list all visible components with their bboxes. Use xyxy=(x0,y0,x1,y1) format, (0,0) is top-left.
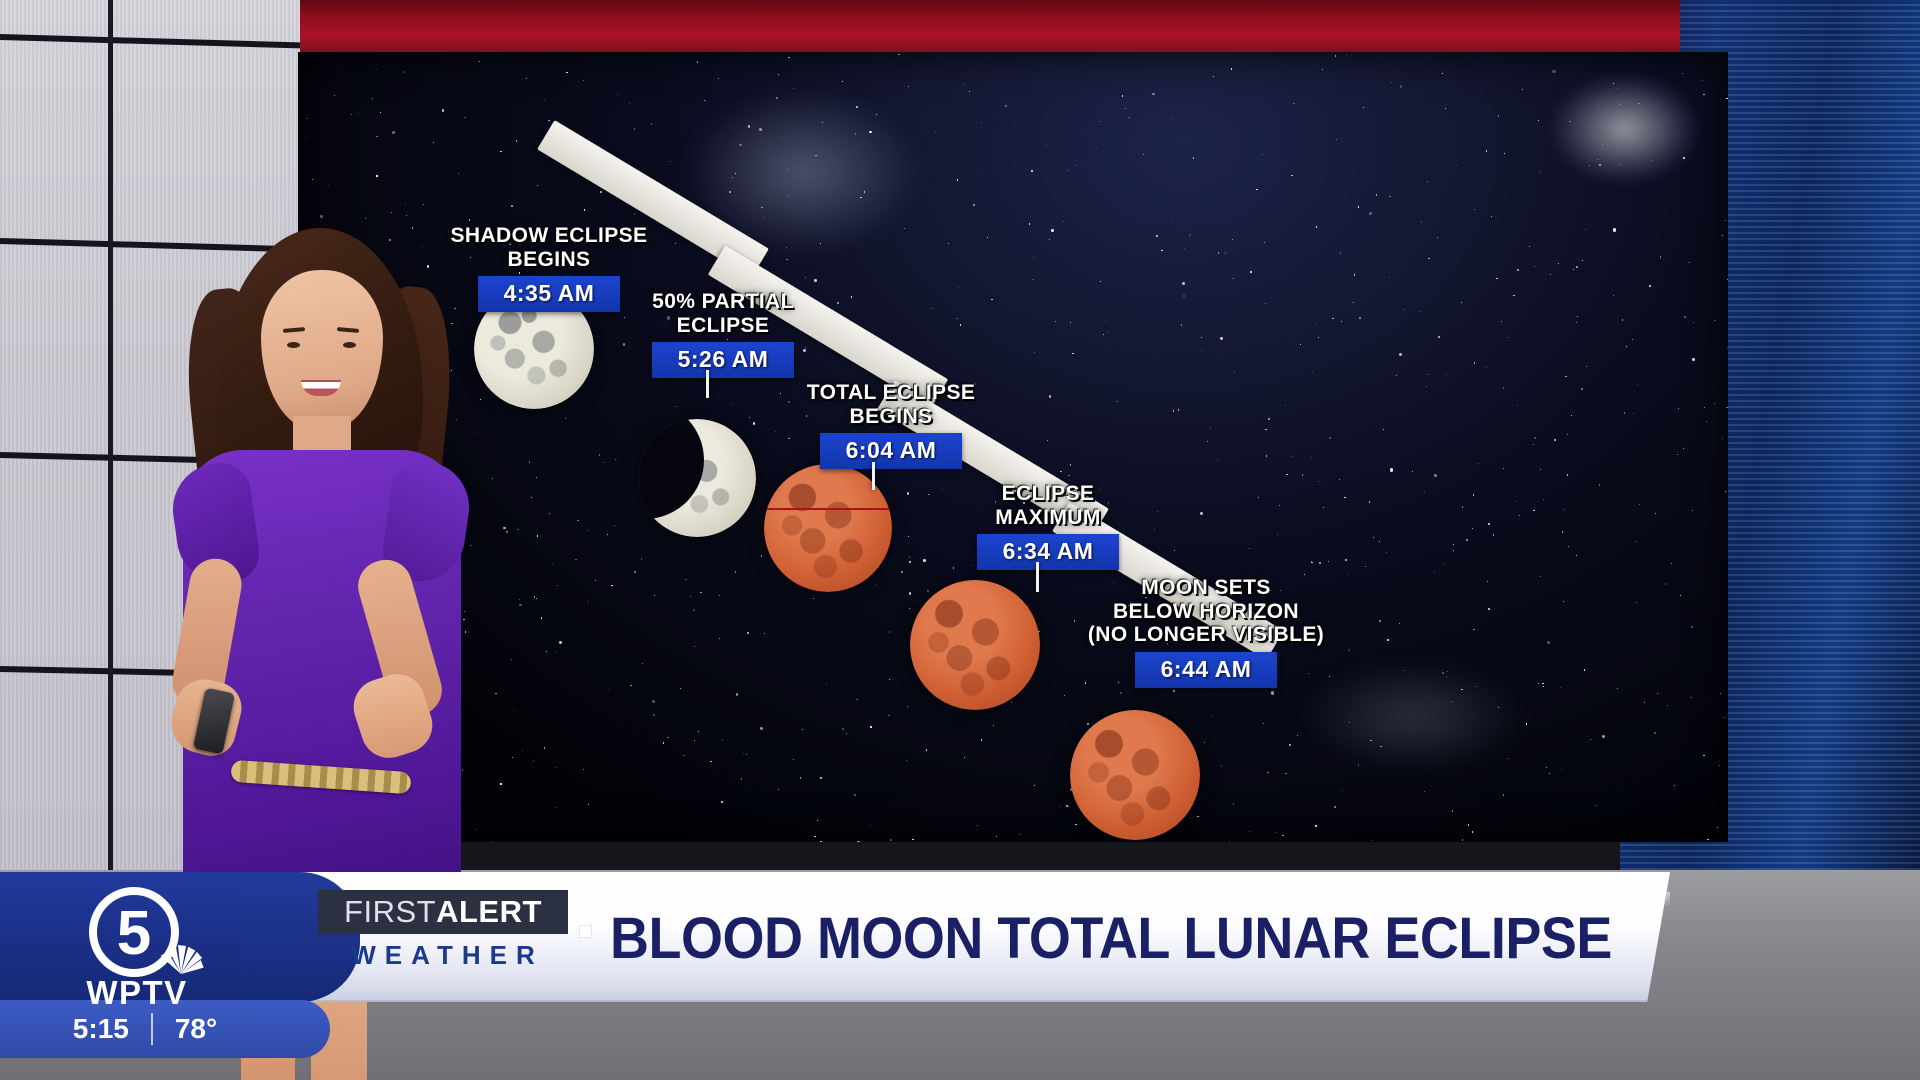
presenter-eyebrow xyxy=(337,327,359,333)
stage-time-chip: 6:34 AM xyxy=(977,534,1120,570)
stage-label-line: TOTAL ECLIPSE xyxy=(726,381,1056,405)
brand-alert: ALERT xyxy=(436,894,542,929)
moon-disc xyxy=(1070,710,1200,840)
presenter-eye xyxy=(287,342,300,348)
brand-weather: WEATHER xyxy=(318,934,568,971)
stage-label-line: ECLIPSE xyxy=(888,482,1208,506)
moon-disc xyxy=(910,580,1040,710)
stage-label-eclipse-maximum: ECLIPSE MAXIMUM 6:34 AM xyxy=(888,482,1208,570)
brand-first: FIRST xyxy=(344,894,436,929)
stage-label-total-eclipse-begins: TOTAL ECLIPSE BEGINS 6:04 AM xyxy=(726,381,1056,469)
headline-text: BLOOD MOON TOTAL LUNAR ECLIPSE xyxy=(610,892,1549,984)
svg-text:5: 5 xyxy=(117,899,151,968)
stage-time-chip: 6:04 AM xyxy=(820,433,963,469)
stage-label-line: MAXIMUM xyxy=(888,506,1208,530)
first-alert-lockup: FIRSTALERT xyxy=(318,890,568,934)
stage-label-line: MOON SETS xyxy=(1036,576,1376,600)
presenter-eye xyxy=(343,342,356,348)
moon-stage-5-setting xyxy=(1070,710,1200,840)
broadcast-screenshot: SHADOW ECLIPSE BEGINS 4:35 AM 50% PARTIA… xyxy=(0,0,1920,1080)
presenter-eyebrow xyxy=(283,327,305,333)
presenter-face xyxy=(261,270,383,430)
stage-label-moon-sets-below-horizon: MOON SETS BELOW HORIZON (NO LONGER VISIB… xyxy=(1036,576,1376,688)
stage-label-line: ECLIPSE xyxy=(558,314,888,338)
first-alert-weather-logo: FIRSTALERT WEATHER xyxy=(318,890,568,971)
stage-label-line: 50% PARTIAL xyxy=(558,290,888,314)
stage-label-line: BEGINS xyxy=(726,405,1056,429)
temperature-readout: 78° xyxy=(175,1013,217,1045)
divider xyxy=(151,1013,153,1045)
horizon-reference-line xyxy=(764,508,892,510)
wall-seam xyxy=(108,0,113,900)
stage-leader-tick xyxy=(872,462,875,490)
clock-time: 5:15 xyxy=(73,1013,129,1045)
moon-stage-4-maximum xyxy=(910,580,1040,710)
stage-label-line: BELOW HORIZON xyxy=(1036,600,1376,624)
time-temp-readout: 5:15 78° xyxy=(0,1000,290,1058)
stage-leader-tick xyxy=(706,370,709,398)
lower-third-banner: 5 WPTV 5:15 78° xyxy=(0,864,1920,1080)
nbc-peacock-icon xyxy=(158,940,204,980)
weather-wall-graphic: SHADOW ECLIPSE BEGINS 4:35 AM 50% PARTIA… xyxy=(298,52,1728,842)
stage-label-fifty-percent-partial-eclipse: 50% PARTIAL ECLIPSE 5:26 AM xyxy=(558,290,888,378)
stage-time-chip: 5:26 AM xyxy=(652,342,795,378)
stage-label-line: (NO LONGER VISIBLE) xyxy=(1036,623,1376,647)
separator-dot xyxy=(580,926,591,937)
stage-time-chip: 6:44 AM xyxy=(1135,652,1278,688)
